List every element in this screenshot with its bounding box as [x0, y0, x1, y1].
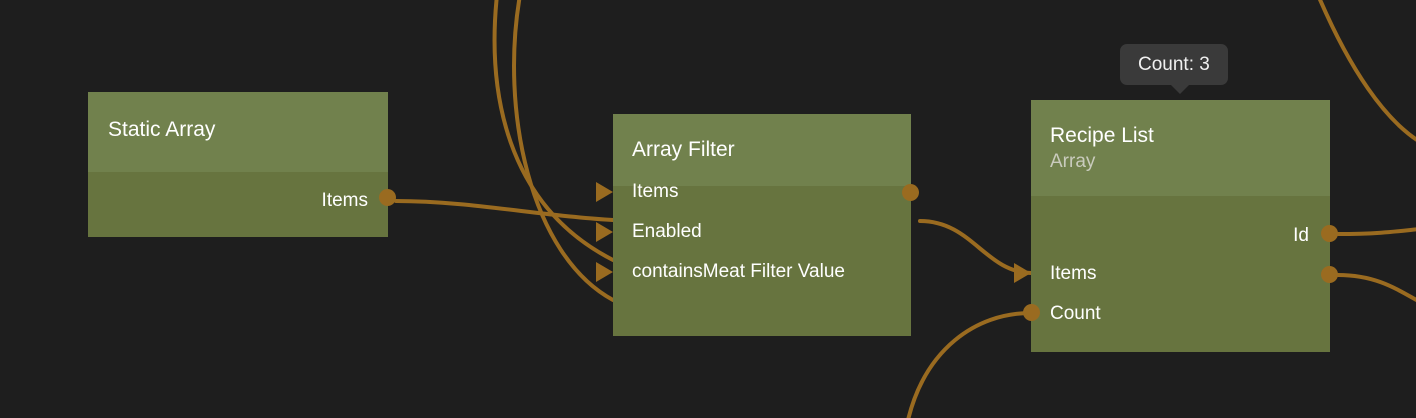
node-graph-canvas[interactable]: Static Array Items Array Filter Items En… [0, 0, 1416, 418]
input-port-label-items: Items [1050, 264, 1096, 283]
node-body-static-array: Items [88, 172, 388, 237]
input-port-enabled[interactable] [596, 222, 613, 242]
tooltip-count: Count: 3 [1120, 44, 1228, 85]
node-subtitle: Array [1031, 147, 1330, 173]
output-port-result[interactable] [902, 184, 919, 201]
edge-offscreen-top-to-filter-containsmeat [514, 0, 613, 300]
input-port-label-count: Count [1050, 304, 1101, 323]
edge-offscreen-bottom-to-recipe-count [908, 313, 1031, 418]
output-port-label-items: Items [322, 191, 368, 210]
tooltip-arrow-icon [1169, 83, 1191, 94]
edge-recipe-out2-to-offscreen-right [1338, 275, 1416, 302]
output-port-id[interactable] [1321, 225, 1338, 242]
input-port-label-items: Items [632, 182, 678, 201]
input-port-items[interactable] [1014, 263, 1031, 283]
node-title: Recipe List [1031, 100, 1330, 147]
node-recipe-list[interactable]: Recipe List Array Id Items Count [1031, 100, 1330, 352]
node-title: Static Array [88, 92, 388, 141]
node-static-array[interactable]: Static Array Items [88, 92, 388, 237]
node-body-array-filter: Items Enabled containsMeat Filter Value [613, 186, 911, 336]
input-port-count[interactable] [1023, 304, 1040, 321]
input-port-items[interactable] [596, 182, 613, 202]
node-header-array-filter: Array Filter [613, 114, 911, 186]
node-body-recipe-list: Id Items Count [1031, 196, 1330, 352]
edge-recipe-id-to-offscreen-right [1338, 229, 1416, 234]
edge-offscreen-top-to-filter-enabled [495, 0, 613, 260]
input-port-label-containsmeat-filter-value: containsMeat Filter Value [632, 262, 845, 281]
node-header-static-array: Static Array [88, 92, 388, 172]
node-array-filter[interactable]: Array Filter Items Enabled containsMeat … [613, 114, 911, 336]
input-port-containsmeat-filter-value[interactable] [596, 262, 613, 282]
node-header-recipe-list: Recipe List Array [1031, 100, 1330, 196]
node-title: Array Filter [613, 114, 911, 161]
output-port-secondary[interactable] [1321, 266, 1338, 283]
edge-static-items-to-filter-items [396, 201, 613, 220]
edge-offscreen-topright-passthrough [1318, 0, 1416, 142]
output-port-label-id: Id [1293, 226, 1309, 245]
output-port-items[interactable] [379, 189, 396, 206]
input-port-label-enabled: Enabled [632, 222, 702, 241]
